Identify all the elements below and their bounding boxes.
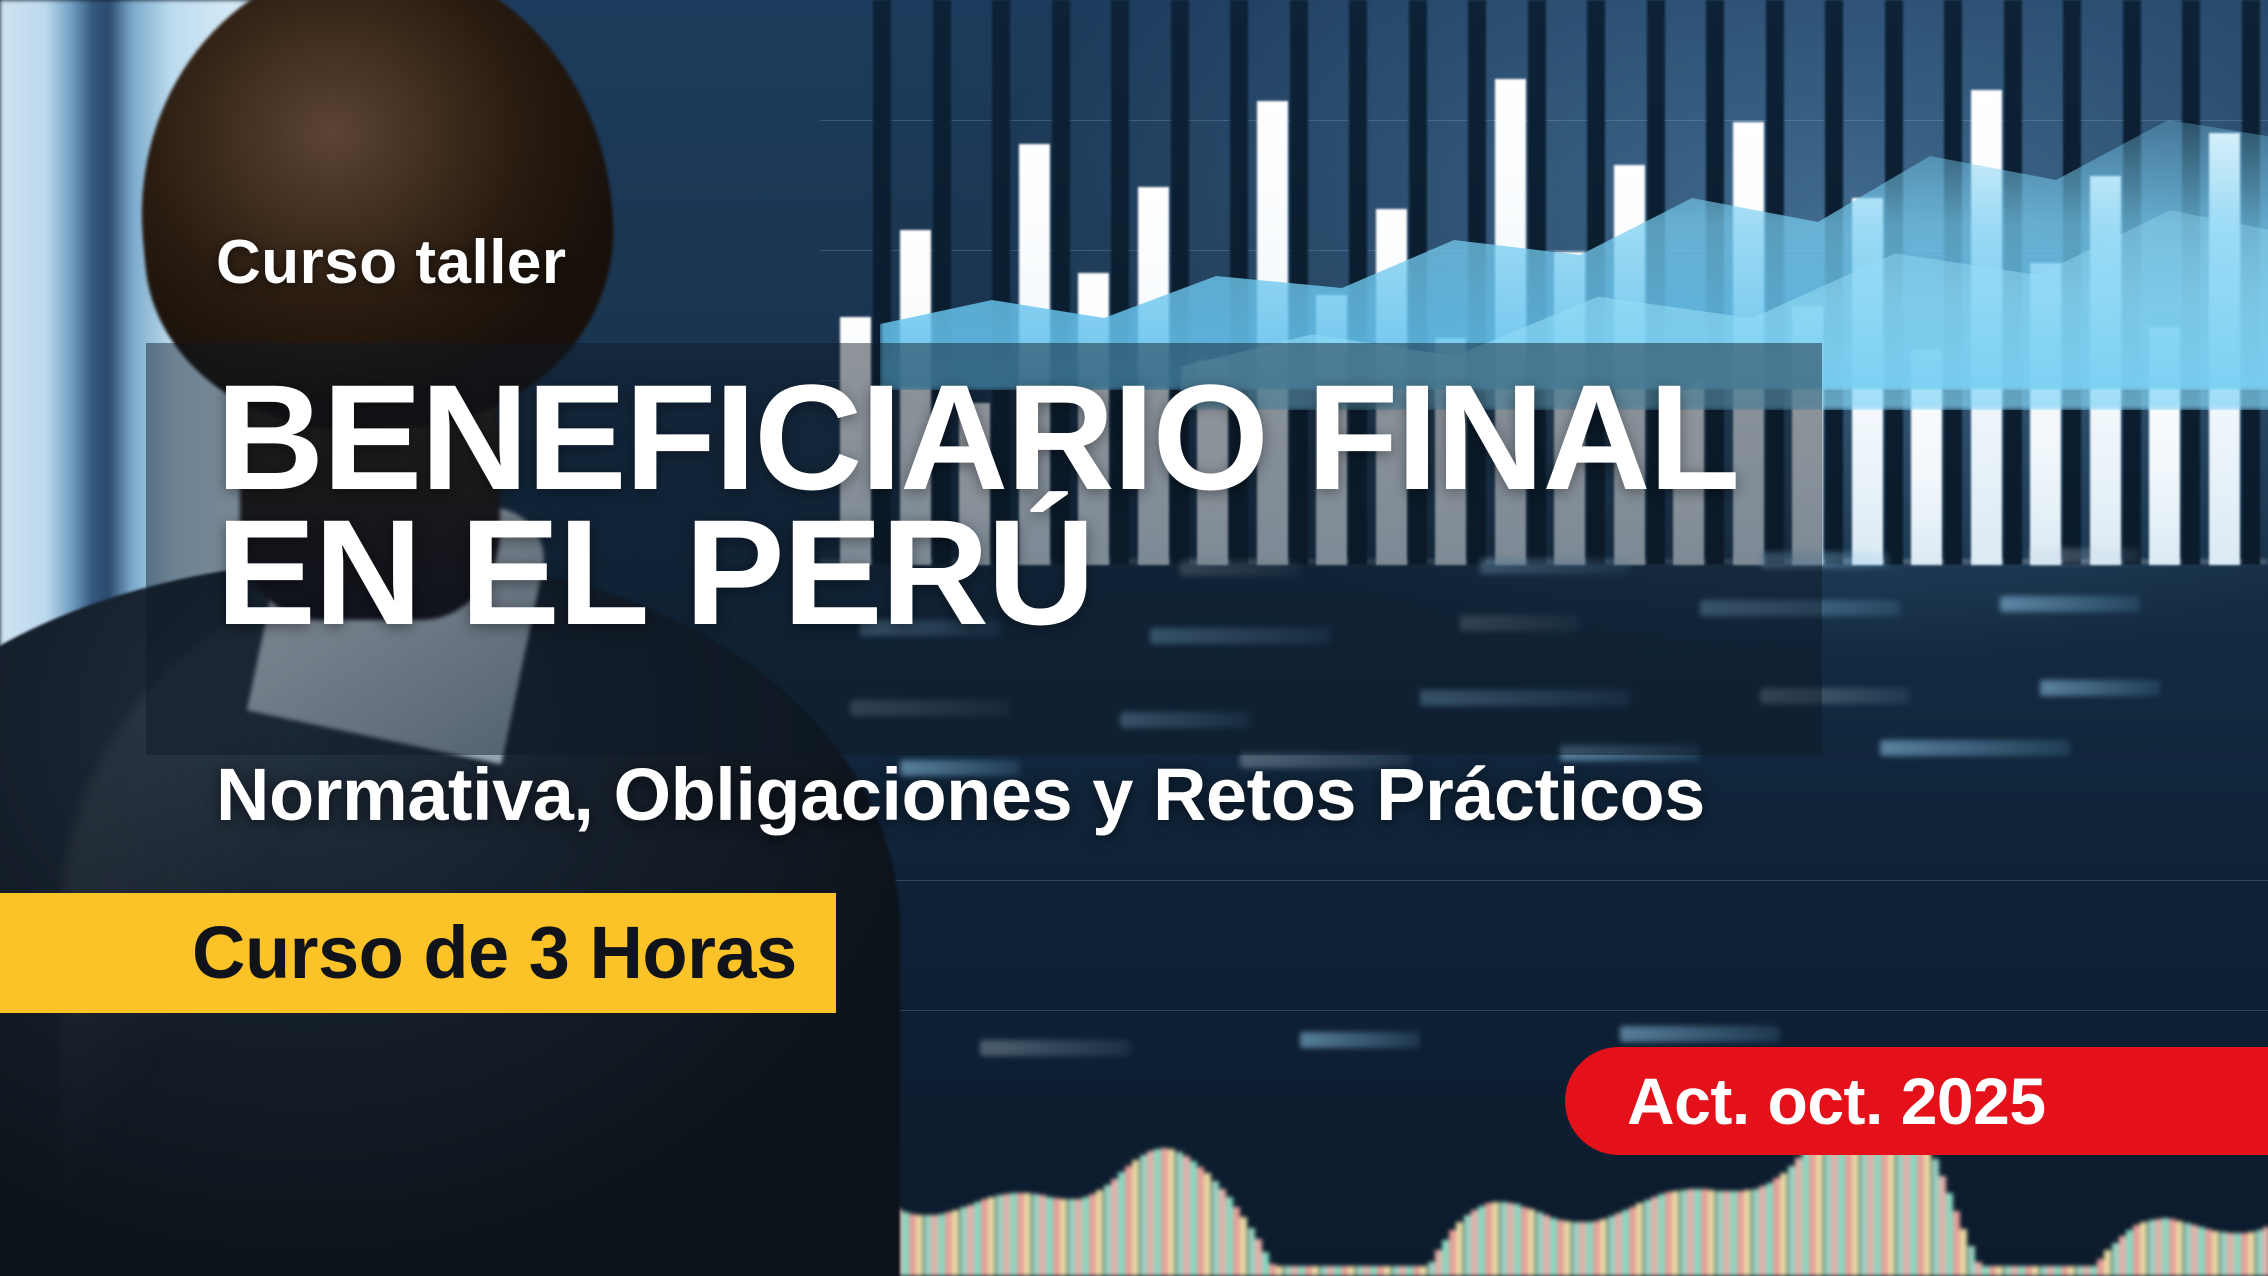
page-title: BENEFICIARIO FINAL EN EL PERÚ (216, 370, 1836, 640)
duration-badge-label: Curso de 3 Horas (192, 916, 797, 990)
subtitle: Normativa, Obligaciones y Retos Práctico… (216, 758, 1916, 832)
eyebrow-label: Curso taller (216, 232, 567, 294)
title-line-2: EN EL PERÚ (216, 505, 1836, 640)
update-badge-label: Act. oct. 2025 (1627, 1068, 2046, 1134)
banner-content: Curso taller BENEFICIARIO FINAL EN EL PE… (0, 0, 2268, 1276)
promo-banner: Curso taller BENEFICIARIO FINAL EN EL PE… (0, 0, 2268, 1276)
duration-badge: Curso de 3 Horas (0, 893, 836, 1013)
update-badge: Act. oct. 2025 (1565, 1047, 2268, 1155)
